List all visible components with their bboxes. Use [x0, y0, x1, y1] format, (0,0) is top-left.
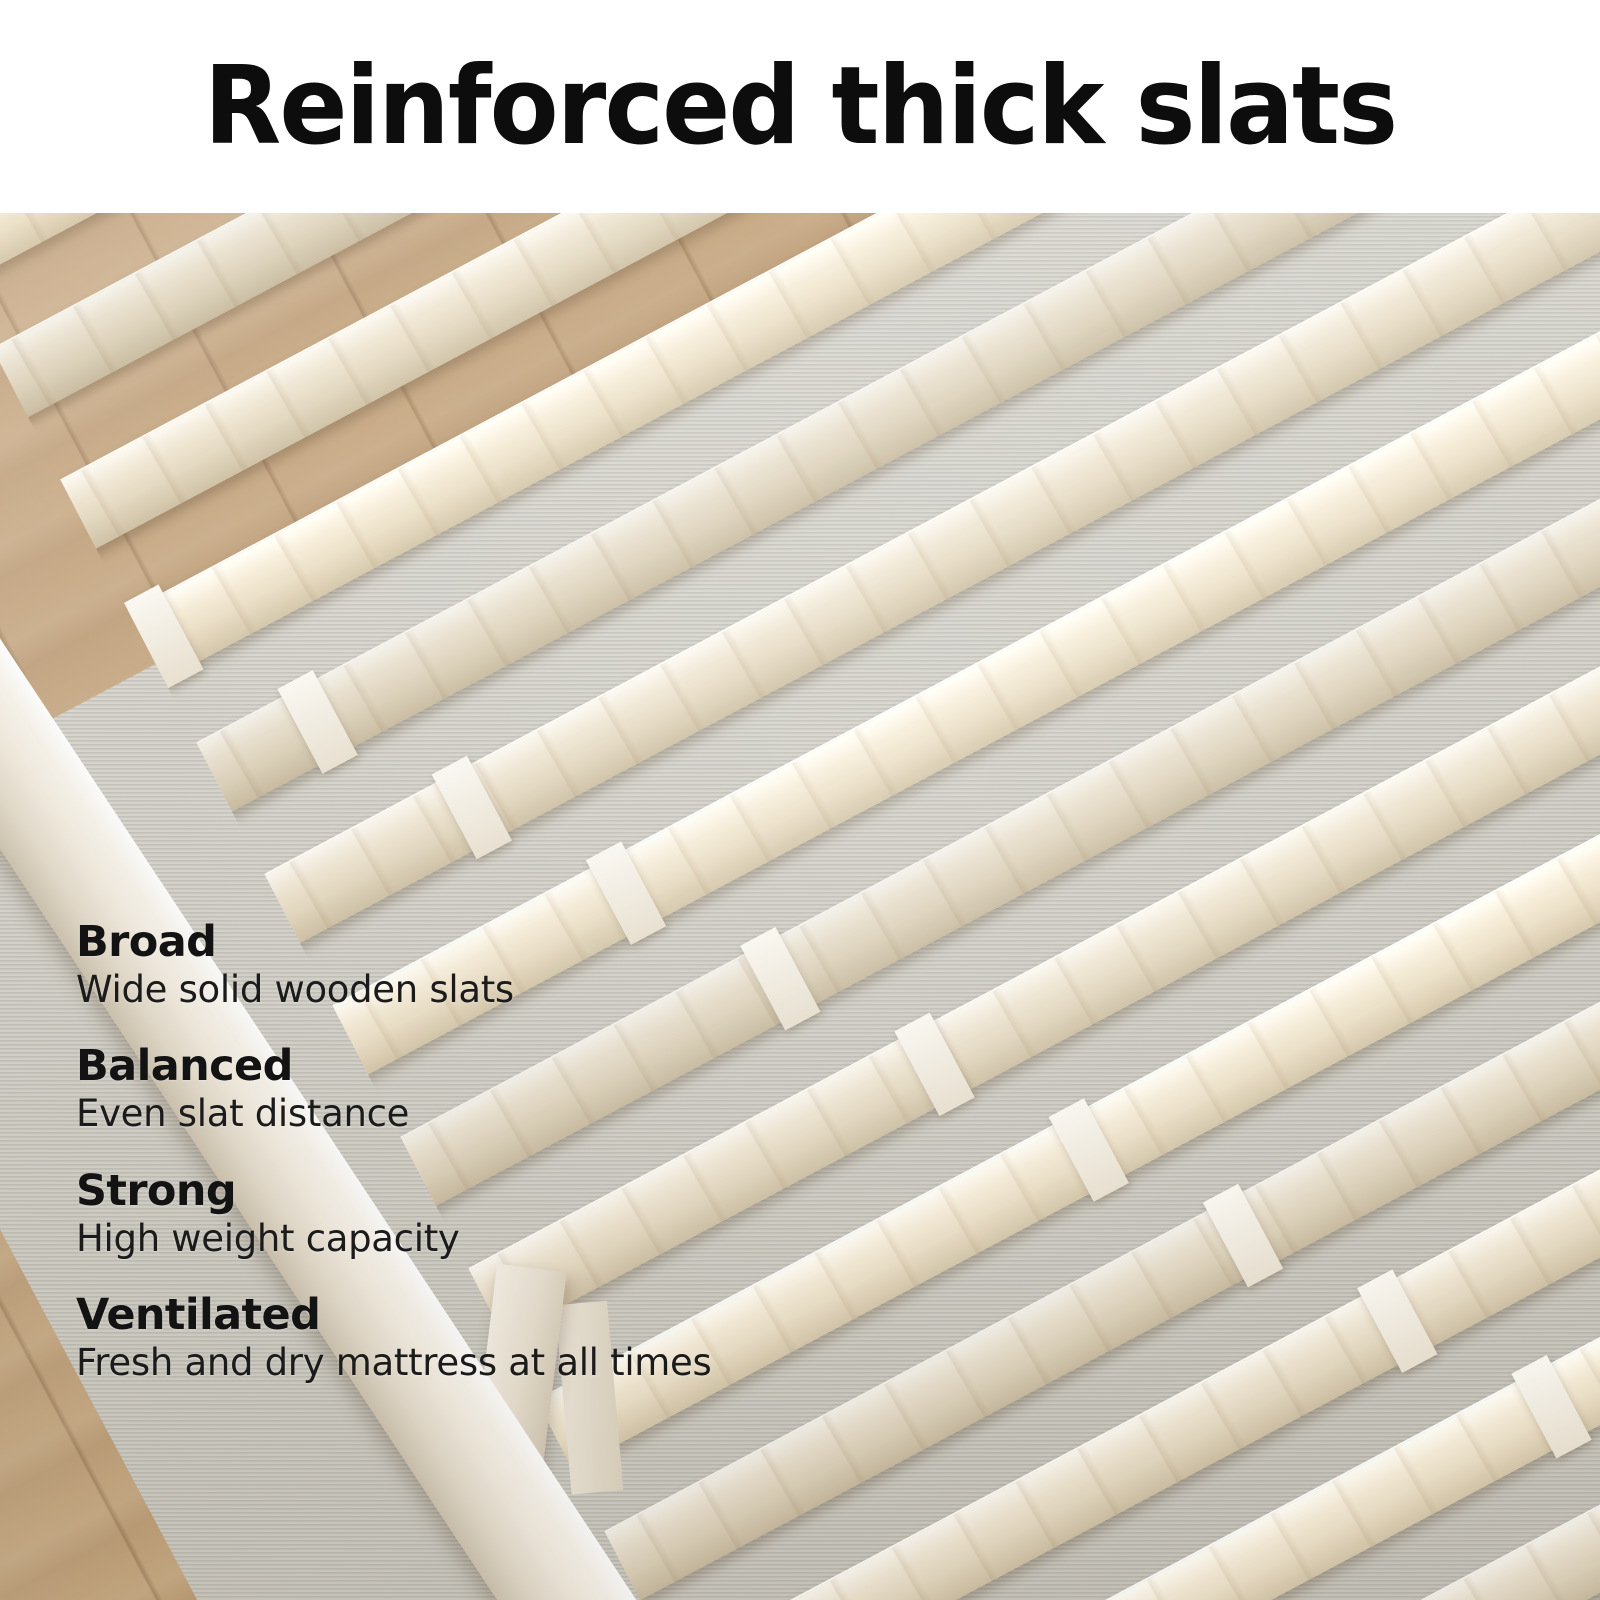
feature-item: VentilatedFresh and dry mattress at all …	[76, 1291, 796, 1387]
feature-description: High weight capacity	[76, 1215, 796, 1263]
feature-title: Ventilated	[76, 1291, 796, 1339]
product-photo	[0, 213, 1600, 1600]
header-band: Reinforced thick slats	[0, 0, 1600, 213]
product-feature-poster: Reinforced thick slats BroadWide solid w…	[0, 0, 1600, 1600]
feature-item: BalancedEven slat distance	[76, 1042, 796, 1138]
feature-title: Broad	[76, 918, 796, 966]
feature-description: Wide solid wooden slats	[76, 966, 796, 1014]
feature-title: Balanced	[76, 1042, 796, 1090]
feature-description: Even slat distance	[76, 1090, 796, 1138]
feature-title: Strong	[76, 1167, 796, 1215]
page-title: Reinforced thick slats	[204, 53, 1396, 161]
feature-item: StrongHigh weight capacity	[76, 1167, 796, 1263]
feature-description: Fresh and dry mattress at all times	[76, 1339, 796, 1387]
feature-item: BroadWide solid wooden slats	[76, 918, 796, 1014]
feature-list: BroadWide solid wooden slatsBalancedEven…	[76, 918, 796, 1387]
